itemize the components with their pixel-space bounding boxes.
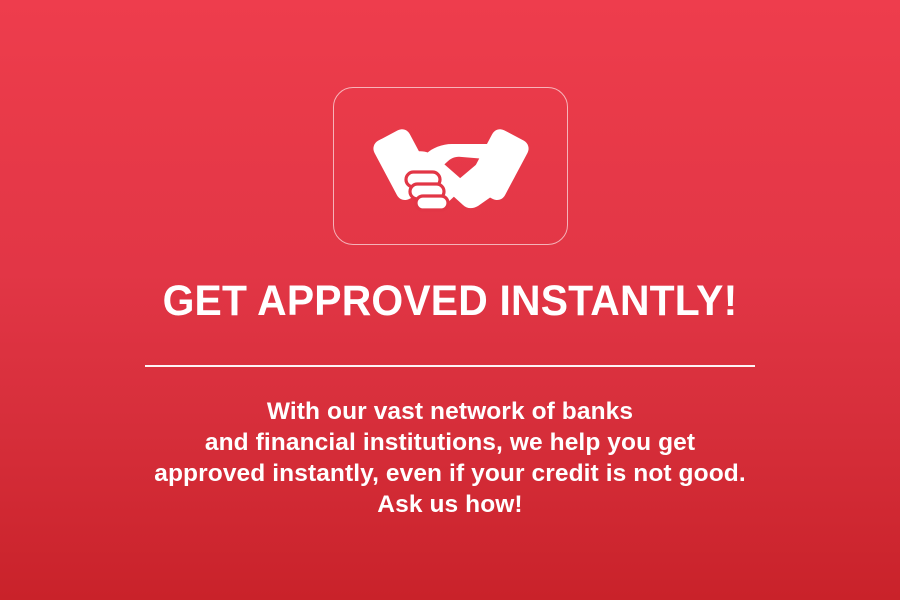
- promo-banner: GET APPROVED INSTANTLY! With our vast ne…: [0, 0, 900, 600]
- body-line: Ask us how!: [0, 489, 900, 520]
- body-line: approved instantly, even if your credit …: [0, 458, 900, 489]
- body-line: and financial institutions, we help you …: [0, 427, 900, 458]
- body-copy: With our vast network of banks and finan…: [0, 396, 900, 520]
- page-title: GET APPROVED INSTANTLY!: [23, 278, 878, 324]
- icon-frame: [333, 87, 568, 245]
- handshake-icon: [366, 110, 536, 222]
- body-line: With our vast network of banks: [0, 396, 900, 427]
- divider: [145, 365, 755, 367]
